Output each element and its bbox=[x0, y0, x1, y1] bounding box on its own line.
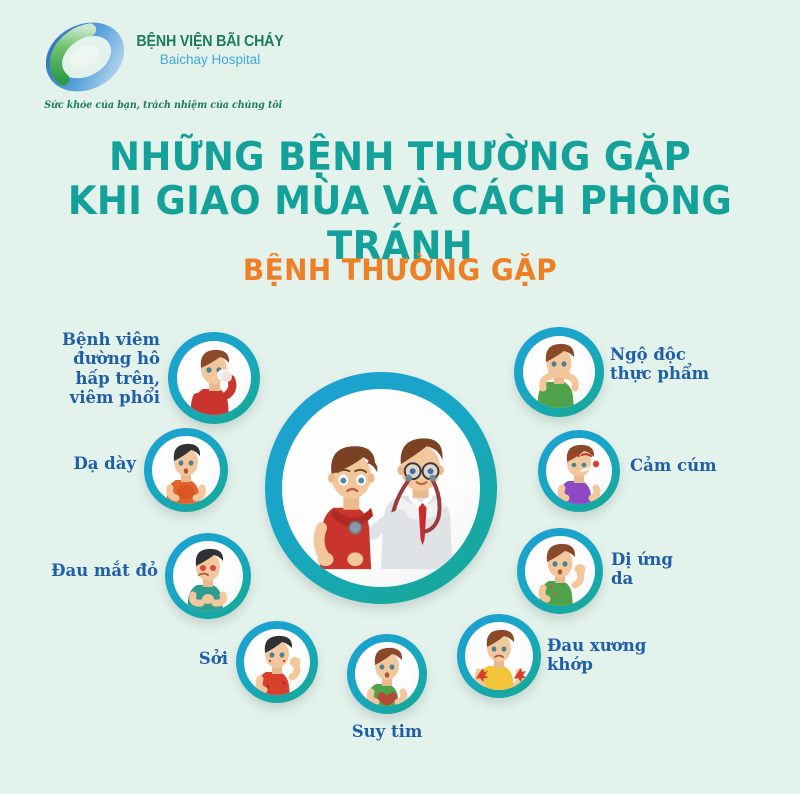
disease-label-di-ung-da: Dị ứng da bbox=[611, 550, 721, 589]
infographic-canvas: BỆNH VIỆN BÃI CHÁY Baichay Hospital Sức … bbox=[0, 0, 800, 794]
section-subtitle: BỆNH THƯỜNG GẶP bbox=[16, 253, 784, 287]
disease-label-dau-mat-do: Đau mắt đỏ bbox=[50, 561, 158, 580]
stomach-ache-person-icon bbox=[152, 436, 220, 504]
center-ring bbox=[265, 372, 497, 604]
hospital-swirl-logo-icon bbox=[46, 18, 124, 96]
page-title: NHỮNG BỆNH THƯỜNG GẶP KHI GIAO MÙA VÀ CÁ… bbox=[0, 136, 800, 269]
disease-label-cam-cum: Cảm cúm bbox=[630, 456, 750, 475]
coughing-person-icon bbox=[177, 341, 251, 415]
disease-ring bbox=[514, 327, 604, 417]
disease-label-da-day: Dạ dày bbox=[48, 454, 136, 473]
skin-allergy-person-icon bbox=[525, 536, 595, 606]
hospital-logo: BỆNH VIỆN BÃI CHÁY Baichay Hospital Sức … bbox=[30, 12, 290, 112]
measles-rash-person-icon bbox=[244, 629, 310, 695]
disease-label-viem-duong-ho-hap: Bệnh viêm đường hô hấp trên, viêm phổi bbox=[58, 330, 160, 408]
heart-failure-person-icon bbox=[355, 642, 419, 706]
hospital-slogan: Sức khỏe của bạn, trách nhiệm của chúng … bbox=[44, 100, 282, 111]
joint-pain-person-icon bbox=[465, 622, 533, 690]
food-poisoning-nausea-person-icon bbox=[523, 336, 595, 408]
hospital-name-vi: BỆNH VIỆN BÃI CHÁY bbox=[136, 34, 283, 50]
disease-label-suy-tim: Suy tim bbox=[325, 722, 449, 741]
hospital-name-en: Baichay Hospital bbox=[130, 52, 290, 68]
doctor-examining-patient-icon bbox=[282, 389, 480, 587]
disease-ring bbox=[538, 430, 620, 512]
disease-ring bbox=[165, 533, 251, 619]
red-eye-person-icon bbox=[173, 541, 243, 611]
page-title-line-1: NHỮNG BỆNH THƯỜNG GẶP bbox=[20, 136, 780, 180]
disease-label-dau-xuong-khop: Đau xương khớp bbox=[547, 636, 667, 675]
disease-ring bbox=[236, 621, 318, 703]
disease-label-soi: Sởi bbox=[176, 649, 228, 668]
hospital-logo-text: BỆNH VIỆN BÃI CHÁY Baichay Hospital bbox=[130, 34, 290, 68]
disease-label-ngo-doc-thuc-pham: Ngộ độc thực phẩm bbox=[610, 345, 740, 384]
disease-ring bbox=[168, 332, 260, 424]
flu-fever-thermometer-person-icon bbox=[546, 438, 612, 504]
disease-ring bbox=[347, 634, 427, 714]
disease-ring bbox=[144, 428, 228, 512]
disease-ring bbox=[457, 614, 541, 698]
disease-ring bbox=[517, 528, 603, 614]
